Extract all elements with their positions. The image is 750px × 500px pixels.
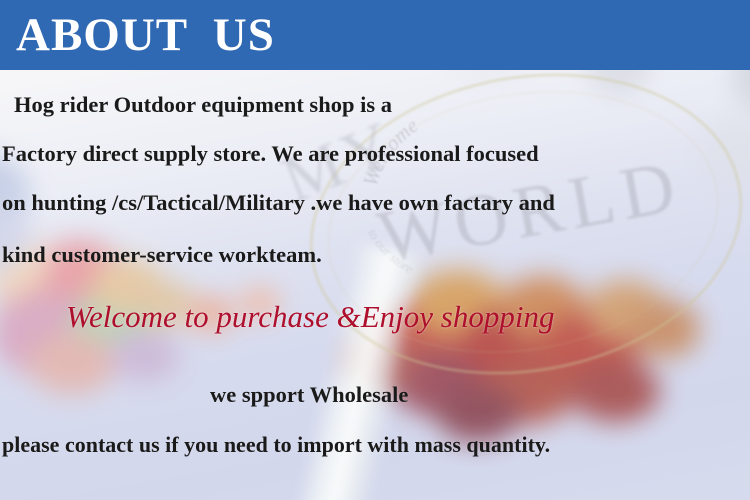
body-line-3: on hunting /cs/Tactical/Military .we hav…	[2, 190, 555, 216]
body-line-1: Hog rider Outdoor equipment shop is a	[14, 92, 392, 118]
header-bar: ABOUT US	[0, 0, 750, 70]
contact-line: please contact us if you need to import …	[2, 432, 550, 458]
about-us-banner: MY WORLD Welcome to our store ABOUT US H…	[0, 0, 750, 500]
welcome-tagline: Welcome to purchase &Enjoy shopping	[66, 299, 554, 335]
wholesale-line: we spport Wholesale	[210, 382, 408, 408]
page-title: ABOUT US	[16, 2, 275, 68]
body-line-4: kind customer-service workteam.	[2, 242, 322, 268]
body-copy: Hog rider Outdoor equipment shop is a Fa…	[0, 70, 750, 500]
body-line-2: Factory direct supply store. We are prof…	[2, 141, 539, 167]
